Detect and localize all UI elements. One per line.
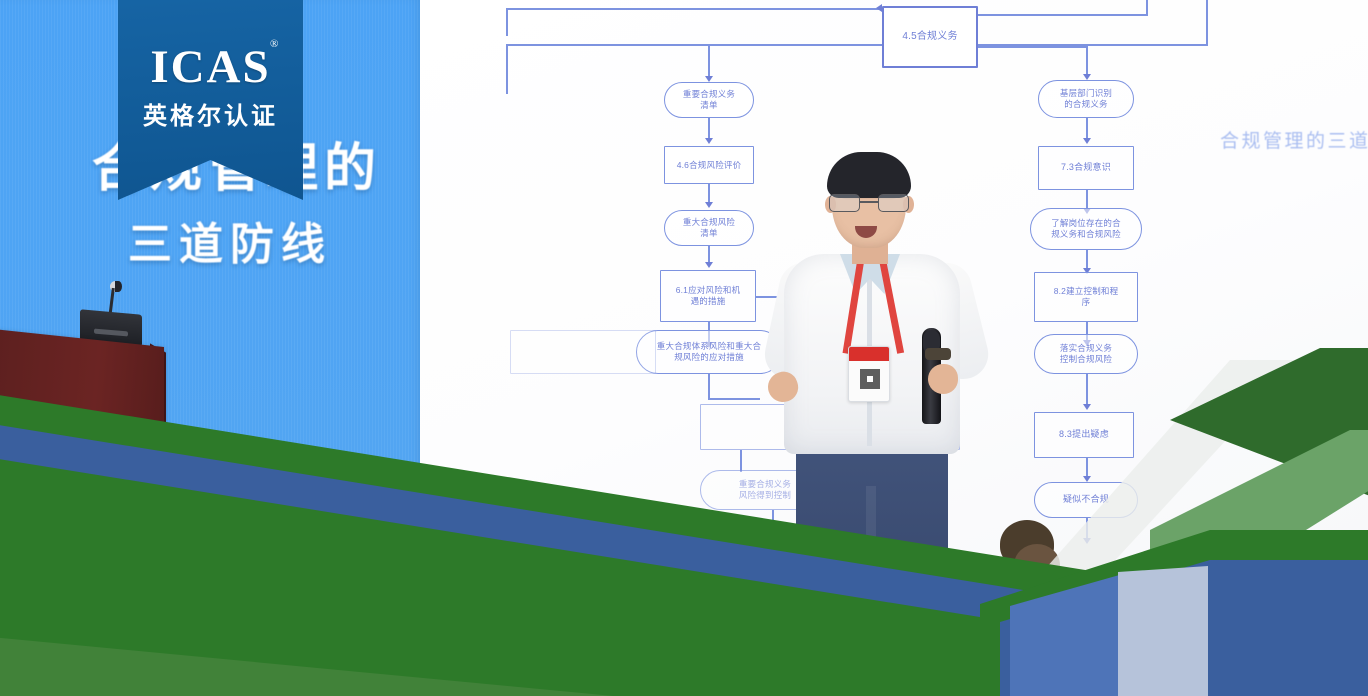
connector [708, 44, 710, 78]
arrow-icon [1083, 138, 1091, 144]
connector [1086, 250, 1088, 270]
connector [978, 44, 1208, 46]
connector [740, 450, 742, 472]
flow-node-major-measures: 重大合规体系风险和重大合 规风险的应对措施 [636, 330, 782, 374]
connector [506, 44, 508, 94]
glasses-lens-left [829, 194, 860, 212]
flow-node-label: 重要合规义务 清单 [683, 89, 735, 110]
connector [1146, 0, 1148, 16]
flow-node-base-dept-obligation: 基层部门识别 的合规义务 [1038, 80, 1134, 118]
flow-node-major-risk-list: 重大合规风险 清单 [664, 210, 754, 246]
overlay-chevron-grey-panel [1118, 566, 1208, 696]
connector [708, 398, 760, 400]
flow-node-know-post-obligation: 了解岗位存在的合 规义务和合规风险 [1030, 208, 1142, 250]
wall-headline-line2: 三道防线 [128, 208, 332, 272]
flow-node-4-6: 4.6合规风险评价 [664, 146, 754, 184]
connector [506, 44, 882, 46]
flow-node-8-2: 8.2建立控制和程 序 [1034, 272, 1138, 322]
flow-node-label: 疑似不合规 [1063, 494, 1109, 505]
connector [506, 8, 508, 36]
arrow-icon [705, 202, 713, 208]
icas-chinese-name: 英格尔认证 [118, 96, 303, 131]
glasses-lens-right [878, 194, 909, 212]
arrow-icon [705, 262, 713, 268]
slide-title: 合规管理的三道防线 [1220, 126, 1368, 153]
flow-node-label: 6.1应对风险和机 遇的措施 [676, 285, 741, 306]
speaker-name-badge [848, 346, 890, 402]
connector [1086, 190, 1088, 210]
flow-node-label: 4.6合规风险评价 [677, 160, 742, 171]
connector [1086, 118, 1088, 140]
flow-node-label: 重大合规风险 清单 [683, 217, 735, 238]
flow-node-4-5: 4.5合规义务 [882, 6, 978, 68]
glasses-bridge [860, 201, 878, 203]
arrow-icon [705, 138, 713, 144]
flow-node-important-obligation-list: 重要合规义务 清单 [664, 82, 754, 118]
speaker-hand-right [928, 364, 958, 394]
connector [978, 46, 1088, 48]
registered-trademark-icon: ® [270, 38, 278, 50]
glasses-icon [828, 194, 911, 212]
flow-node-label: 7.3合规意识 [1061, 162, 1111, 173]
flow-node-label: 4.5合规义务 [902, 31, 957, 44]
flow-node-implement-control: 落实合规义务 控制合规风险 [1034, 334, 1138, 374]
connector [1086, 46, 1088, 76]
flow-node-partial-right [510, 330, 656, 374]
icas-wordmark: ICAS [118, 44, 303, 91]
flow-node-label: 8.2建立控制和程 序 [1054, 286, 1119, 307]
flow-node-8-3: 8.3提出疑虑 [1034, 412, 1134, 458]
connector [1086, 374, 1088, 406]
connector [708, 184, 710, 204]
flow-node-label: 基层部门识别 的合规义务 [1060, 88, 1112, 109]
flow-node-6-1: 6.1应对风险和机 遇的措施 [660, 270, 756, 322]
stage-photo: 合规管理的 三道防线 ICAS ® 英格尔认证 4.5合规义务 [0, 0, 1368, 696]
flow-node-label: 8.3提出疑虑 [1059, 429, 1109, 440]
wristwatch-icon [925, 348, 951, 360]
flow-node-7-3: 7.3合规意识 [1038, 146, 1134, 190]
connector [708, 374, 710, 400]
connector [978, 14, 1148, 16]
arrow-icon [1083, 404, 1091, 410]
connector [1206, 0, 1208, 46]
badge-header-strip [849, 347, 889, 361]
connector [708, 118, 710, 140]
qr-code-icon [860, 369, 880, 389]
flow-node-label: 落实合规义务 控制合规风险 [1060, 343, 1112, 364]
speaker-hair [827, 152, 911, 198]
flow-node-label: 了解岗位存在的合 规义务和合规风险 [1051, 218, 1121, 239]
flow-node-label: 重大合规体系风险和重大合 规风险的应对措施 [657, 341, 761, 362]
connector [1086, 458, 1088, 478]
connector [506, 8, 882, 10]
